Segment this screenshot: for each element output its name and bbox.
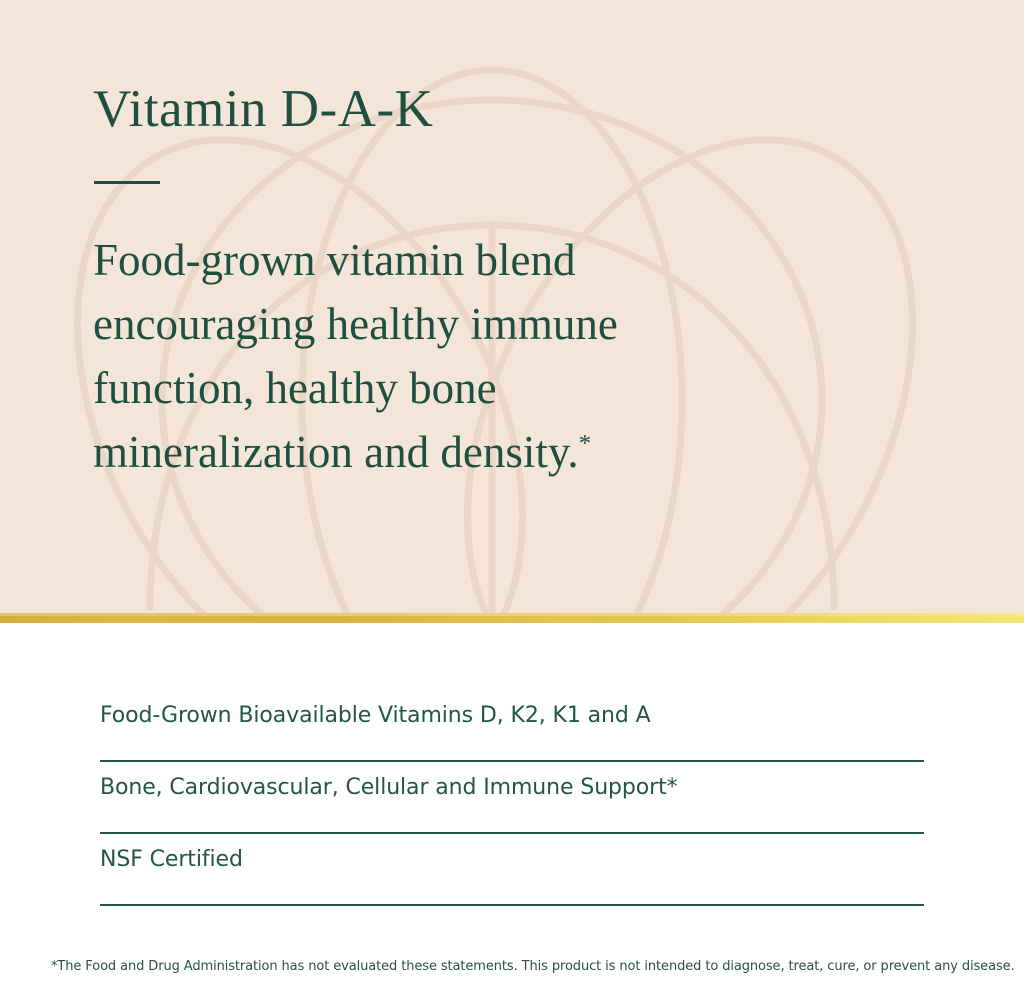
hero-subtitle: Food-grown vitamin blend encouraging hea… [93, 228, 753, 484]
feature-label: NSF Certified [100, 845, 243, 875]
feature-label: Bone, Cardiovascular, Cellular and Immun… [100, 773, 678, 803]
list-item: Food-Grown Bioavailable Vitamins D, K2, … [100, 690, 924, 762]
fda-disclaimer: *The Food and Drug Administration has no… [51, 958, 981, 976]
hero-subtitle-text: Food-grown vitamin blend encouraging hea… [93, 235, 618, 477]
page-title: Vitamin D-A-K [93, 82, 433, 138]
gold-accent-band-highlight [0, 613, 1024, 616]
hero-section: Vitamin D-A-K Food-grown vitamin blend e… [0, 0, 1024, 613]
list-item: NSF Certified [100, 834, 924, 906]
product-detail-panel: Vitamin D-A-K Food-grown vitamin blend e… [0, 0, 1024, 981]
feature-label: Food-Grown Bioavailable Vitamins D, K2, … [100, 701, 651, 731]
list-item: Bone, Cardiovascular, Cellular and Immun… [100, 762, 924, 834]
hero-subtitle-footnote-marker: * [579, 430, 591, 457]
feature-list: Food-Grown Bioavailable Vitamins D, K2, … [100, 690, 924, 906]
title-underline-rule [94, 181, 160, 184]
feature-divider [100, 904, 924, 906]
